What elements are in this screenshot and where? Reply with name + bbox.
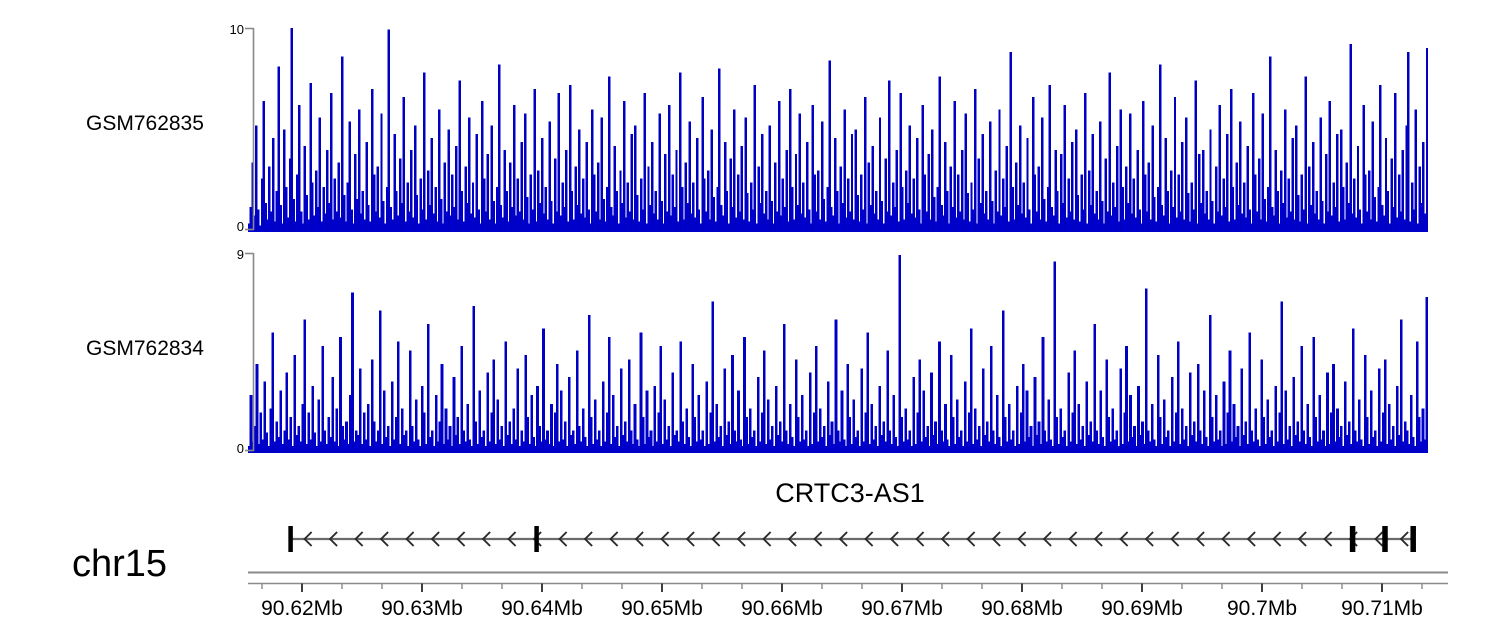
axis-tick-label: 90.62Mb: [261, 597, 343, 621]
axis-tick-label: 90.7Mb: [1227, 597, 1297, 621]
axis-tick-label: 90.67Mb: [861, 597, 943, 621]
genome-browser-view: GSM762835 10 0 GSM762834 9 0 CRTC3-AS1 c…: [0, 0, 1500, 640]
axis-tick-label: 90.66Mb: [741, 597, 823, 621]
gene-model-track[interactable]: [248, 518, 1448, 560]
axis-tick-label: 90.64Mb: [501, 597, 583, 621]
axis-tick-label: 90.71Mb: [1341, 597, 1423, 621]
axis-tick-label: 90.69Mb: [1101, 597, 1183, 621]
track2-y-axis: [240, 249, 256, 457]
axis-tick-label: 90.63Mb: [381, 597, 463, 621]
track-label-gsm762835: GSM762835: [86, 112, 204, 136]
axis-tick-label: 90.68Mb: [981, 597, 1063, 621]
track-label-gsm762834: GSM762834: [86, 337, 204, 361]
axis-tick-label: 90.65Mb: [621, 597, 703, 621]
coverage-plot-gsm762834: [248, 253, 1428, 453]
gene-name-label: CRTC3-AS1: [660, 478, 1040, 509]
genomic-axis: [248, 570, 1448, 592]
chromosome-label: chr15: [72, 543, 167, 586]
track1-y-axis: [240, 24, 256, 236]
coverage-plot-gsm762835: [248, 28, 1428, 232]
